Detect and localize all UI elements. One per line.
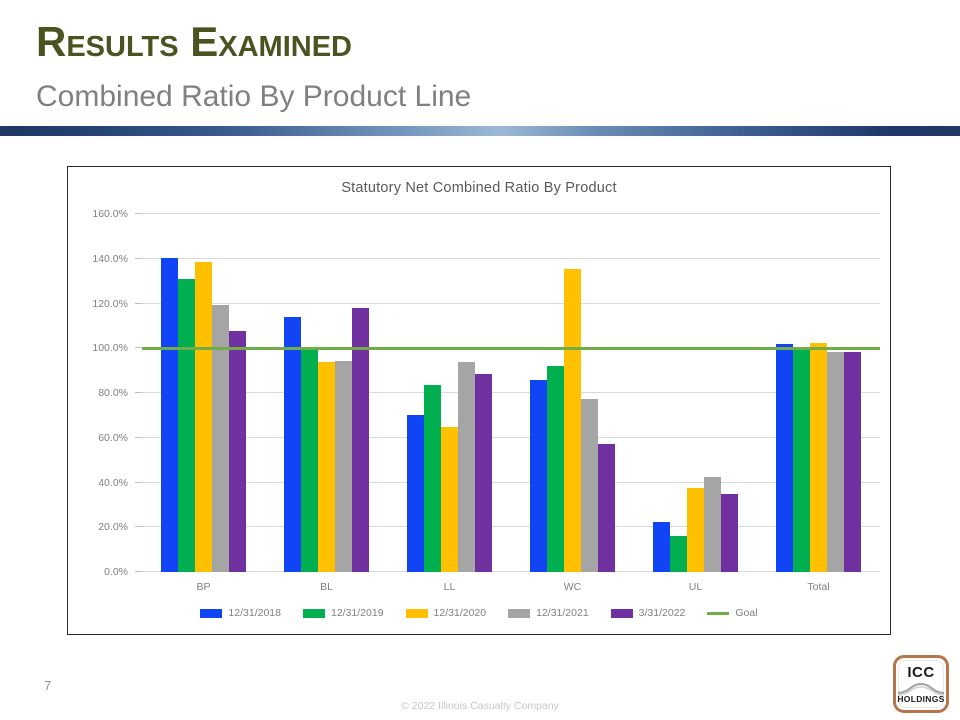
x-axis-label: Total [757,581,880,593]
y-axis-label: 60.0% [48,432,128,444]
bar[interactable] [229,331,246,572]
legend-item[interactable]: 12/31/2020 [406,607,487,619]
y-axis-label: 40.0% [48,477,128,489]
bar[interactable] [581,399,598,572]
legend-swatch-icon [508,609,530,618]
legend-swatch-icon [303,609,325,618]
x-axis-label: BL [265,581,388,593]
y-axis-label: 20.0% [48,521,128,533]
bar-group-total: Total [757,214,880,572]
x-axis-label: BP [142,581,265,593]
legend-swatch-icon [611,609,633,618]
x-axis-label: LL [388,581,511,593]
logo-holdings-text: HOLDINGS [896,694,946,704]
bar[interactable] [721,494,738,572]
bar[interactable] [810,343,827,572]
y-axis-tick [135,526,142,527]
y-axis-tick [135,482,142,483]
footer-copyright: © 2022 Illinois Casualty Company [0,700,960,712]
bar[interactable] [407,415,424,572]
logo-icc-text: ICC [896,664,946,681]
header-divider [0,126,960,136]
bar-group-bp: BP [142,214,265,572]
y-axis-tick [135,571,142,572]
bar[interactable] [301,348,318,572]
bars [757,214,880,572]
y-axis-tick [135,347,142,348]
icc-holdings-logo: ICC HOLDINGS [893,655,949,713]
legend-swatch-icon [707,612,729,615]
bars [265,214,388,572]
bar[interactable] [475,374,492,572]
bar[interactable] [704,477,721,572]
bar[interactable] [687,488,704,572]
legend-label: 12/31/2019 [331,607,384,619]
bar[interactable] [530,380,547,572]
chart-legend: 12/31/201812/31/201912/31/202012/31/2021… [68,607,890,619]
bar[interactable] [284,317,301,572]
bar[interactable] [776,344,793,572]
y-axis-tick [135,437,142,438]
legend-item[interactable]: 12/31/2018 [200,607,281,619]
chart-plot-area: 0.0%20.0%40.0%60.0%80.0%100.0%120.0%140.… [142,214,880,572]
legend-label: 12/31/2021 [536,607,589,619]
bar[interactable] [564,269,581,572]
bar[interactable] [793,347,810,572]
x-axis-label: UL [634,581,757,593]
bar[interactable] [458,362,475,572]
goal-reference-line [142,347,880,350]
bar[interactable] [827,352,844,572]
chart-baseline [142,571,880,572]
chart-title: Statutory Net Combined Ratio By Product [68,180,890,196]
y-axis-label: 0.0% [48,566,128,578]
bar[interactable] [335,361,352,572]
legend-swatch-icon [406,609,428,618]
legend-item[interactable]: 12/31/2021 [508,607,589,619]
bar[interactable] [670,536,687,572]
y-axis-label: 100.0% [48,342,128,354]
bar[interactable] [195,262,212,572]
legend-swatch-icon [200,609,222,618]
y-axis-label: 120.0% [48,298,128,310]
y-axis-label: 160.0% [48,208,128,220]
bars [142,214,265,572]
bar[interactable] [598,444,615,572]
y-axis-label: 140.0% [48,253,128,265]
bar[interactable] [547,366,564,572]
bar[interactable] [178,279,195,572]
legend-label: 3/31/2022 [639,607,686,619]
bar[interactable] [653,522,670,572]
bar-group-bl: BL [265,214,388,572]
bars [634,214,757,572]
bar[interactable] [844,352,861,572]
legend-item[interactable]: 3/31/2022 [611,607,686,619]
legend-label: 12/31/2020 [434,607,487,619]
legend-item[interactable]: 12/31/2019 [303,607,384,619]
bar[interactable] [424,385,441,572]
bars [388,214,511,572]
bar[interactable] [318,362,335,572]
bar-group-wc: WC [511,214,634,572]
bar[interactable] [212,305,229,572]
bar[interactable] [441,427,458,572]
page-title: Results Examined [36,20,352,64]
y-axis-tick [135,303,142,304]
y-axis-tick [135,258,142,259]
x-axis-label: WC [511,581,634,593]
page-number: 7 [44,678,51,693]
bar[interactable] [161,258,178,572]
legend-label: 12/31/2018 [228,607,281,619]
bars [511,214,634,572]
chart-container: Statutory Net Combined Ratio By Product … [67,166,891,635]
y-axis-tick [135,213,142,214]
bar-group-ll: LL [388,214,511,572]
legend-item[interactable]: Goal [707,607,757,619]
bar-group-ul: UL [634,214,757,572]
legend-label: Goal [735,607,757,619]
y-axis-label: 80.0% [48,387,128,399]
page-subtitle: Combined Ratio By Product Line [36,80,471,114]
y-axis-tick [135,392,142,393]
